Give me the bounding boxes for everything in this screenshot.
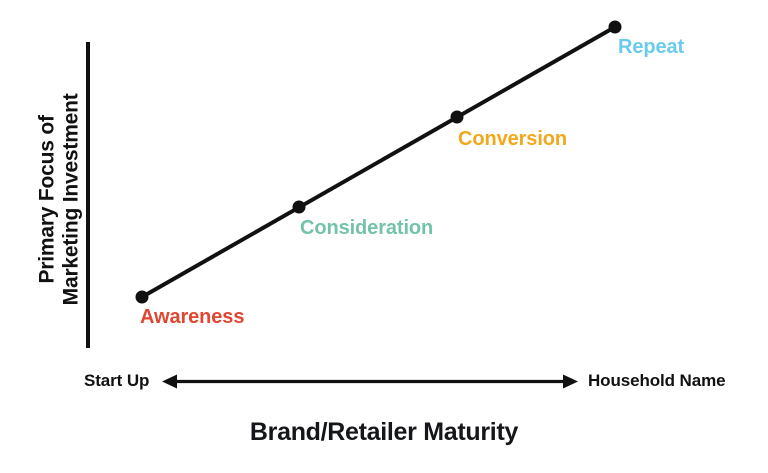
data-label-awareness: Awareness [140,306,244,329]
data-label-consideration: Consideration [300,217,433,240]
data-label-repeat: Repeat [618,36,684,59]
chart-canvas: Primary Focus of Marketing Investment Aw… [0,0,768,473]
data-label-conversion: Conversion [458,128,567,151]
y-axis-line [86,42,90,348]
x-axis-arrowhead-right [563,375,578,389]
x-axis-title: Brand/Retailer Maturity [0,418,768,447]
trend-line [142,27,615,297]
x-axis-label-start-up: Start Up [84,371,149,391]
x-axis-label-household-name: Household Name [588,371,725,391]
data-point-awareness [136,291,149,304]
y-axis-label: Primary Focus of Marketing Investment [36,19,85,379]
data-point-conversion [451,111,464,124]
data-point-repeat [609,21,622,34]
x-axis-arrowhead-left [162,375,177,389]
data-point-consideration [293,201,306,214]
